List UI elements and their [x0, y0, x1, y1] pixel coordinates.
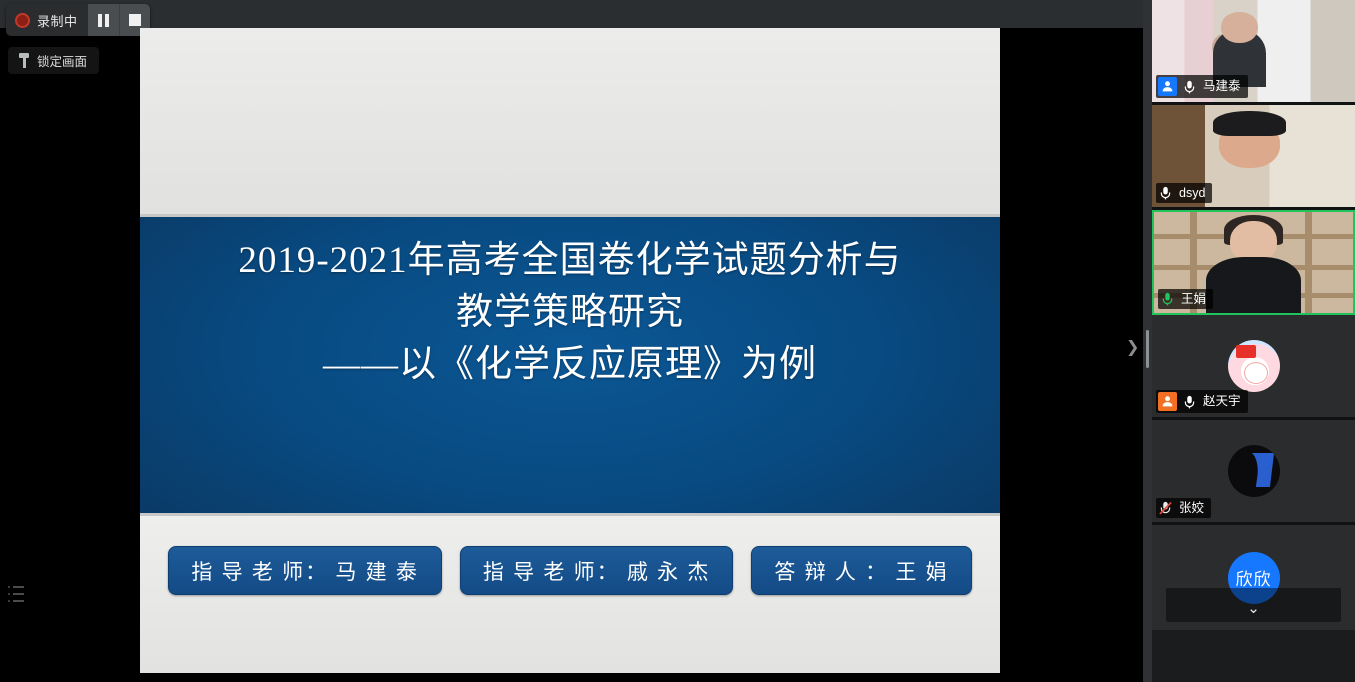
participant-badge: 王娟: [1158, 289, 1213, 309]
mic-on-icon: [1158, 185, 1173, 201]
participant-tile-active-speaker[interactable]: 王娟: [1152, 210, 1355, 315]
slide-credits-row: 指 导 老 师： 马 建 泰 指 导 老 师： 戚 永 杰 答 辩 人 ： 王 …: [140, 546, 1000, 595]
shared-screen-slide: 2019-2021年高考全国卷化学试题分析与 教学策略研究 ——以《化学反应原理…: [140, 28, 1000, 673]
slide-title-line-1: 2019-2021年高考全国卷化学试题分析与: [140, 235, 1000, 287]
participant-tile[interactable]: 欣欣 ⌄: [1152, 525, 1355, 630]
recording-status-label: 录制中: [37, 11, 78, 30]
participant-badge: 赵天宇: [1156, 390, 1248, 413]
participant-badge: 马建泰: [1156, 75, 1248, 98]
mic-on-icon: [1182, 394, 1197, 410]
meeting-screen: 录制中 锁定画面 2019-2021年高考全国卷化学试题分析与 教学策略研究 —…: [0, 0, 1355, 682]
participant-badge: dsyd: [1156, 183, 1212, 203]
stop-icon: [129, 14, 141, 26]
mic-muted-icon: [1158, 500, 1173, 516]
advisor-2-chip: 指 导 老 师： 戚 永 杰: [460, 546, 734, 595]
recording-toolbar[interactable]: 录制中: [6, 4, 150, 36]
chevron-down-icon[interactable]: ⌄: [1152, 601, 1355, 616]
slide-title-band: 2019-2021年高考全国卷化学试题分析与 教学策略研究 ——以《化学反应原理…: [140, 217, 1000, 513]
mic-active-icon: [1160, 291, 1175, 307]
record-dot-icon: [15, 13, 30, 28]
chevron-right-icon[interactable]: ❯: [1126, 340, 1139, 356]
pin-icon: [18, 53, 30, 68]
participant-name: 赵天宇: [1203, 395, 1241, 408]
participant-tile[interactable]: 赵天宇: [1152, 315, 1355, 420]
lock-screen-label: 锁定画面: [37, 51, 87, 70]
participant-badge: 张姣: [1156, 498, 1211, 518]
participant-name: dsyd: [1179, 187, 1205, 200]
participant-tile[interactable]: dsyd: [1152, 105, 1355, 210]
slide-footer: 指 导 老 师： 马 建 泰 指 导 老 师： 戚 永 杰 答 辩 人 ： 王 …: [140, 516, 1000, 673]
participant-name: 张姣: [1179, 502, 1204, 515]
slide-title-line-3: ——以《化学反应原理》为例: [140, 339, 1000, 391]
host-person-icon: [1158, 77, 1177, 96]
host-person-icon: [1158, 392, 1177, 411]
recording-status: 录制中: [6, 4, 88, 36]
lock-screen-button[interactable]: 锁定画面: [8, 47, 99, 74]
pause-icon: [98, 14, 109, 27]
presenter-chip: 答 辩 人 ： 王 娟: [751, 546, 971, 595]
participant-name: 王娟: [1181, 293, 1206, 306]
participant-tile[interactable]: 马建泰: [1152, 0, 1355, 105]
participant-tile[interactable]: 张姣: [1152, 420, 1355, 525]
panel-scrollbar[interactable]: [1143, 0, 1152, 682]
participant-name: 马建泰: [1203, 80, 1241, 93]
slide-title-line-2: 教学策略研究: [140, 287, 1000, 339]
slide-top-margin: [140, 28, 1000, 214]
pause-recording-button[interactable]: [88, 4, 119, 36]
mic-on-icon: [1182, 79, 1197, 95]
top-bar: [0, 0, 1143, 28]
slide-title: 2019-2021年高考全国卷化学试题分析与 教学策略研究 ——以《化学反应原理…: [140, 235, 1000, 391]
list-icon[interactable]: [8, 586, 26, 602]
advisor-1-chip: 指 导 老 师： 马 建 泰: [168, 546, 442, 595]
participant-rail[interactable]: 马建泰 dsyd: [1152, 0, 1355, 682]
